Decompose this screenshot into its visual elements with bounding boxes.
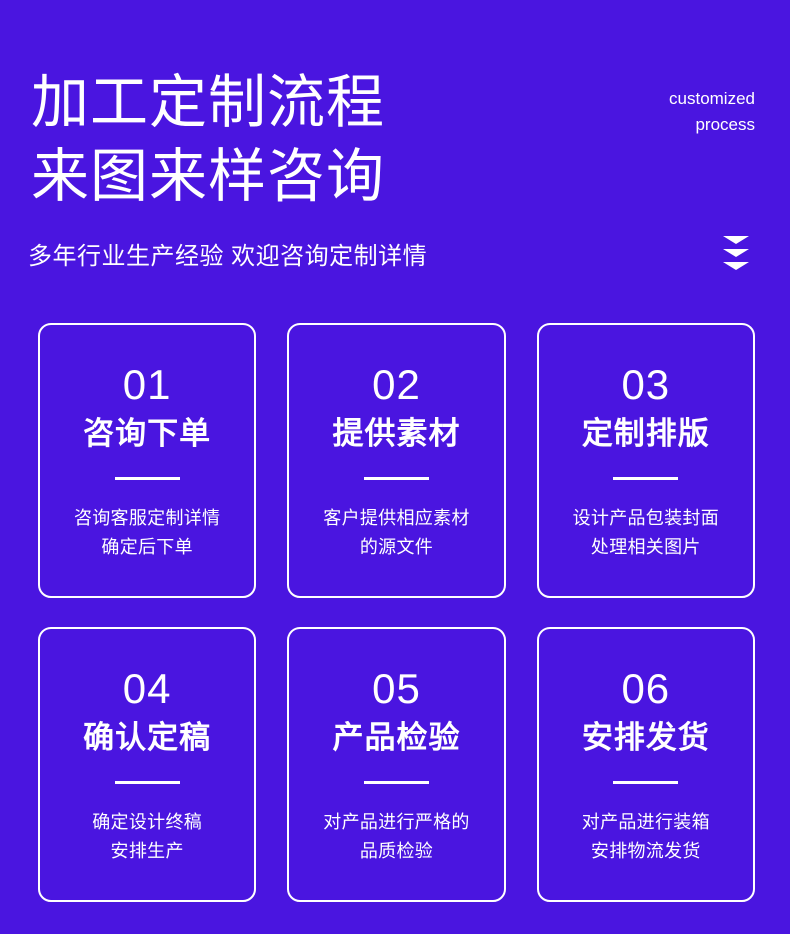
customization-process-page: 加工定制流程 来图来样咨询 customized process 多年行业生产经… (0, 0, 790, 934)
eyebrow-label: customized process (555, 86, 755, 138)
step-description-line-1: 咨询客服定制详情 (74, 504, 220, 533)
page-subtitle: 多年行业生产经验 欢迎咨询定制详情 (28, 241, 427, 273)
chevron-down-icon-2 (723, 249, 749, 257)
step-title: 确认定稿 (83, 717, 211, 759)
step-divider (364, 781, 429, 784)
step-title: 提供素材 (332, 413, 460, 455)
step-title: 咨询下单 (83, 413, 211, 455)
step-description: 客户提供相应素材 的源文件 (323, 504, 469, 562)
step-description-line-1: 对产品进行严格的 (323, 808, 469, 837)
step-number: 03 (621, 361, 670, 409)
step-title: 安排发货 (582, 717, 710, 759)
step-divider (115, 781, 180, 784)
step-description-line-2: 处理相关图片 (573, 533, 719, 562)
step-description-line-2: 品质检验 (323, 837, 469, 866)
step-description-line-2: 的源文件 (323, 533, 469, 562)
page-title: 加工定制流程 来图来样咨询 (31, 66, 385, 214)
step-description-line-1: 对产品进行装箱 (582, 808, 710, 837)
process-step-card: 05 产品检验 对产品进行严格的 品质检验 (287, 627, 505, 902)
page-title-line-2: 来图来样咨询 (31, 140, 385, 214)
process-step-card: 02 提供素材 客户提供相应素材 的源文件 (287, 323, 505, 598)
chevron-down-icon-3 (723, 262, 749, 270)
process-steps-grid: 01 咨询下单 咨询客服定制详情 确定后下单 02 提供素材 客户提供相应素材 … (38, 323, 755, 902)
step-number: 04 (123, 665, 172, 713)
page-header: 加工定制流程 来图来样咨询 customized process 多年行业生产经… (0, 0, 790, 300)
process-step-card: 04 确认定稿 确定设计终稿 安排生产 (38, 627, 256, 902)
step-title: 产品检验 (332, 717, 460, 759)
step-number: 06 (621, 665, 670, 713)
process-step-card: 01 咨询下单 咨询客服定制详情 确定后下单 (38, 323, 256, 598)
step-divider (364, 477, 429, 480)
step-number: 02 (372, 361, 421, 409)
step-description: 咨询客服定制详情 确定后下单 (74, 504, 220, 562)
step-description: 设计产品包装封面 处理相关图片 (573, 504, 719, 562)
step-description-line-1: 设计产品包装封面 (573, 504, 719, 533)
triple-chevron-down-icon (718, 236, 754, 270)
step-description-line-2: 确定后下单 (74, 533, 220, 562)
step-title: 定制排版 (582, 413, 710, 455)
page-title-line-1: 加工定制流程 (31, 70, 385, 135)
step-description: 对产品进行严格的 品质检验 (323, 808, 469, 866)
step-description: 确定设计终稿 安排生产 (92, 808, 202, 866)
step-divider (613, 477, 678, 480)
process-step-card: 03 定制排版 设计产品包装封面 处理相关图片 (537, 323, 755, 598)
step-number: 01 (123, 361, 172, 409)
step-divider (613, 781, 678, 784)
eyebrow-line-1: customized (555, 86, 755, 112)
eyebrow-line-2: process (555, 112, 755, 138)
chevron-down-icon-1 (723, 236, 749, 244)
step-description-line-2: 安排物流发货 (582, 837, 710, 866)
step-description-line-2: 安排生产 (92, 837, 202, 866)
step-divider (115, 477, 180, 480)
step-description: 对产品进行装箱 安排物流发货 (582, 808, 710, 866)
process-step-card: 06 安排发货 对产品进行装箱 安排物流发货 (537, 627, 755, 902)
step-description-line-1: 确定设计终稿 (92, 808, 202, 837)
step-number: 05 (372, 665, 421, 713)
step-description-line-1: 客户提供相应素材 (323, 504, 469, 533)
